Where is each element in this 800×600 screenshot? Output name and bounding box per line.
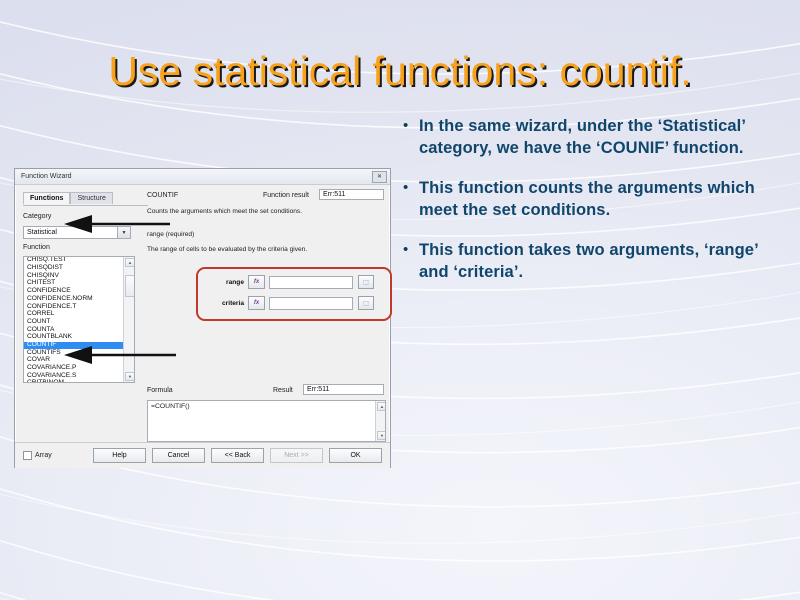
dialog-buttons: Help Cancel << Back Next >> OK <box>93 448 382 463</box>
dialog-tabs: Functions Structure <box>23 191 113 203</box>
argument-label: criteria <box>216 300 244 307</box>
bullet-text: In the same wizard, under the ‘Statistic… <box>419 115 773 159</box>
category-select[interactable]: Statistical ▼ <box>23 226 131 239</box>
scrollbar-thumb[interactable] <box>125 275 135 297</box>
list-item: • In the same wizard, under the ‘Statist… <box>403 115 773 159</box>
scroll-down-icon[interactable]: ▼ <box>125 372 135 381</box>
bullet-marker: • <box>403 239 419 283</box>
function-listbox[interactable]: CHISQ.TESTCHISQDISTCHISQINVCHITESTCONFID… <box>23 256 135 383</box>
cell-picker-icon[interactable]: ⬚ <box>358 296 374 310</box>
fx-icon[interactable]: fx <box>248 275 265 289</box>
dialog-body: Functions Structure Category Statistical… <box>15 185 390 468</box>
list-item: • This function takes two arguments, ‘ra… <box>403 239 773 283</box>
function-list-items[interactable]: CHISQ.TESTCHISQDISTCHISQINVCHITESTCONFID… <box>24 257 123 383</box>
formula-label: Formula <box>147 387 173 394</box>
checkbox-box[interactable] <box>23 451 32 460</box>
arguments-highlight-box: range fx ⬚ criteria fx ⬚ <box>196 267 392 321</box>
help-button[interactable]: Help <box>93 448 146 463</box>
range-input[interactable] <box>269 276 353 289</box>
bullet-marker: • <box>403 115 419 159</box>
dialog-title: Function Wizard <box>21 173 72 180</box>
bullet-list: • In the same wizard, under the ‘Statist… <box>403 115 773 301</box>
function-list-item[interactable]: CRITBINOM <box>24 380 123 383</box>
argument-description: The range of cells to be evaluated by th… <box>147 246 307 253</box>
criteria-input[interactable] <box>269 297 353 310</box>
next-button: Next >> <box>270 448 323 463</box>
cell-picker-icon[interactable]: ⬚ <box>358 275 374 289</box>
array-checkbox[interactable]: Array <box>23 451 52 460</box>
argument-title: range (required) <box>147 231 194 238</box>
chevron-down-icon[interactable]: ▼ <box>117 227 130 238</box>
argument-row-criteria[interactable]: criteria fx ⬚ <box>216 295 390 311</box>
function-list-scrollbar[interactable]: ▲ ▼ <box>123 257 134 382</box>
cancel-button[interactable]: Cancel <box>152 448 205 463</box>
formula-text: =COUNTIF() <box>148 401 385 410</box>
bullet-marker: • <box>403 177 419 221</box>
function-list-item[interactable]: CONFIDENCE.NORM <box>24 295 123 303</box>
back-button[interactable]: << Back <box>211 448 264 463</box>
result-value: Err:511 <box>303 384 384 395</box>
argument-label: range <box>216 279 244 286</box>
bullet-text: This function counts the arguments which… <box>419 177 773 221</box>
array-checkbox-label: Array <box>35 452 52 459</box>
result-label: Result <box>273 387 293 394</box>
close-icon[interactable]: ✕ <box>372 171 387 183</box>
function-label: Function <box>23 244 50 251</box>
tab-structure[interactable]: Structure <box>70 192 112 204</box>
scroll-up-icon[interactable]: ▲ <box>377 402 386 411</box>
function-result-label: Function result <box>263 192 309 199</box>
ok-button[interactable]: OK <box>329 448 382 463</box>
tab-functions[interactable]: Functions <box>23 192 70 204</box>
fx-icon[interactable]: fx <box>248 296 265 310</box>
category-label: Category <box>23 213 51 220</box>
selected-function-name: COUNTIF <box>147 192 178 199</box>
formula-input[interactable]: =COUNTIF() ▲ ▼ <box>147 400 386 442</box>
dialog-titlebar[interactable]: Function Wizard ✕ <box>15 169 390 185</box>
function-result-value: Err:511 <box>319 189 384 200</box>
tab-underline <box>23 205 148 206</box>
function-description: Counts the arguments which meet the set … <box>147 208 302 215</box>
argument-row-range[interactable]: range fx ⬚ <box>216 274 390 290</box>
slide-title: Use statistical functions: countif. <box>40 48 760 95</box>
category-selected-value: Statistical <box>27 229 57 236</box>
scroll-down-icon[interactable]: ▼ <box>377 431 386 440</box>
list-item: • This function counts the arguments whi… <box>403 177 773 221</box>
bullet-text: This function takes two arguments, ‘rang… <box>419 239 773 283</box>
formula-scrollbar[interactable]: ▲ ▼ <box>375 401 385 441</box>
dialog-footer: Array Help Cancel << Back Next >> OK <box>15 442 390 468</box>
scroll-up-icon[interactable]: ▲ <box>125 258 135 267</box>
